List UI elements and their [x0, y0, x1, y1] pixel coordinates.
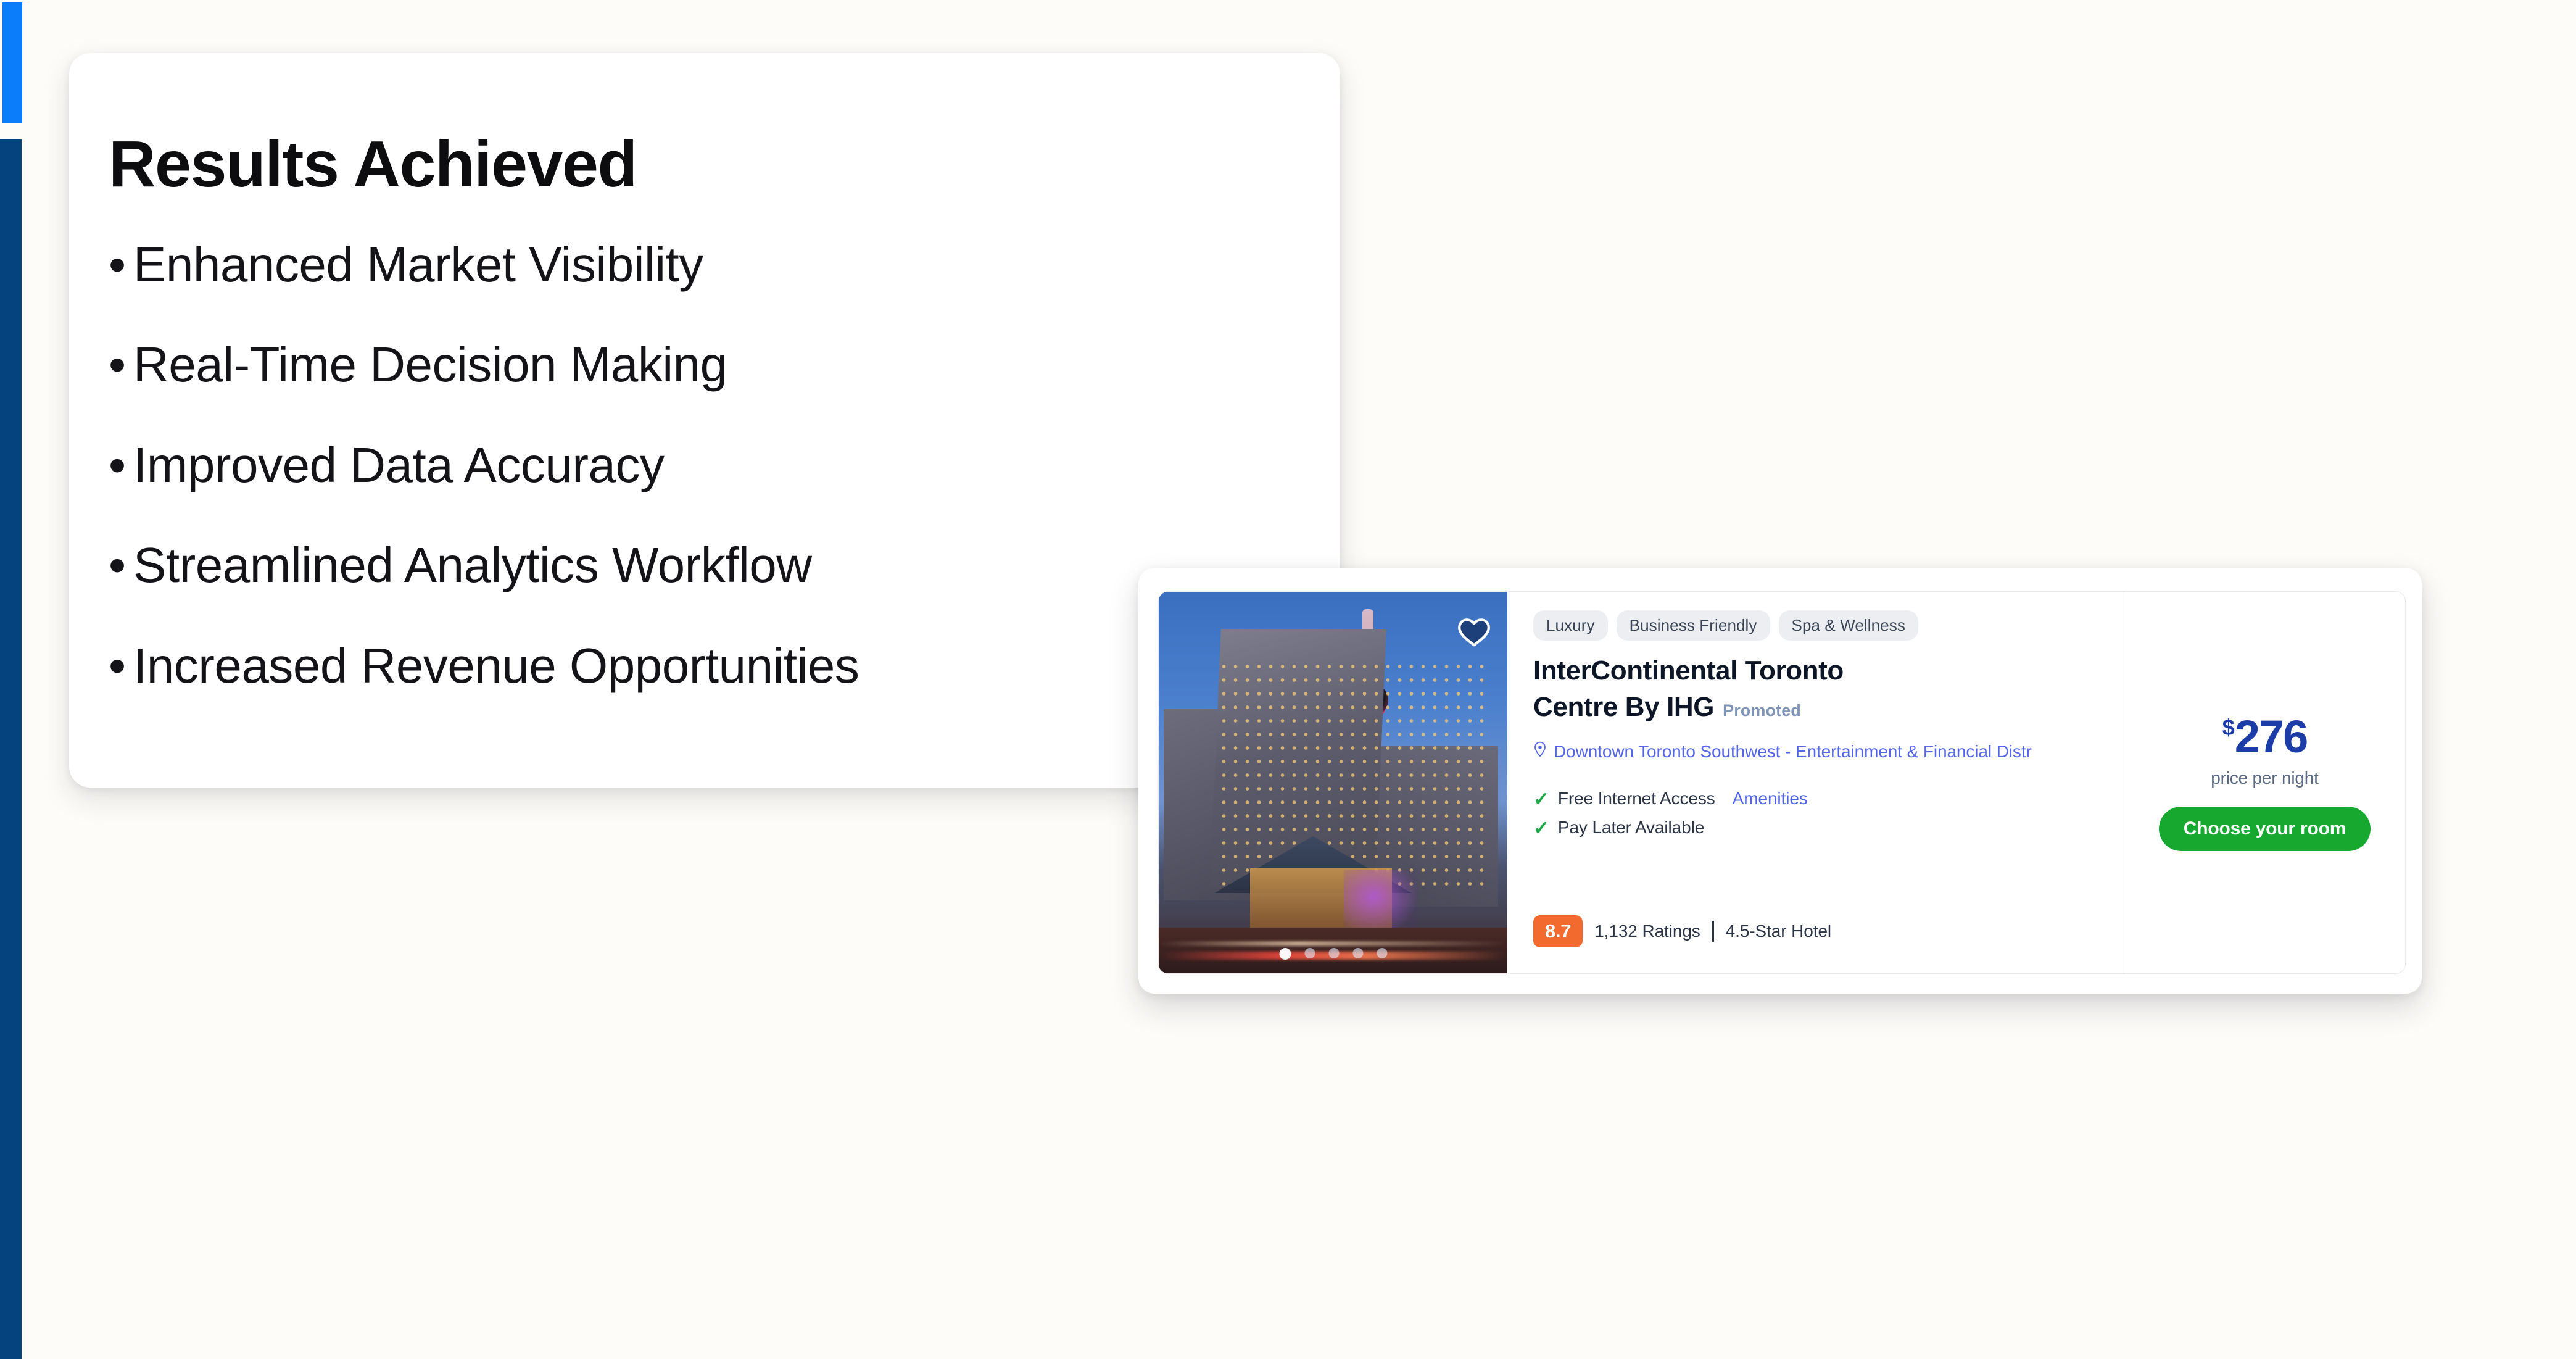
- hotel-name-line-2: Centre By IHG: [1533, 692, 1714, 722]
- building-windows: [1218, 660, 1489, 894]
- check-icon: ✓: [1533, 818, 1549, 837]
- amenity-label: Pay Later Available: [1558, 818, 1704, 837]
- hotel-tag-chips: Luxury Business Friendly Spa & Wellness: [1533, 610, 2102, 641]
- list-item-label: Real-Time Decision Making: [133, 338, 727, 391]
- list-item: • Enhanced Market Visibility: [109, 238, 1340, 291]
- list-item-label: Streamlined Analytics Workflow: [133, 539, 812, 592]
- accent-bar-top: [2, 2, 22, 123]
- hotel-info-column: Luxury Business Friendly Spa & Wellness …: [1507, 592, 2124, 973]
- bullet-marker-icon: •: [109, 641, 133, 691]
- map-pin-icon: [1533, 741, 1547, 762]
- hotel-location-link[interactable]: Downtown Toronto Southwest - Entertainme…: [1533, 741, 2102, 762]
- amenity-row-pay-later: ✓ Pay Later Available: [1533, 818, 2102, 837]
- photo-carousel-dots[interactable]: [1279, 948, 1387, 960]
- rating-separator: [1712, 921, 1714, 942]
- hotel-location-text: Downtown Toronto Southwest - Entertainme…: [1554, 742, 2032, 762]
- carousel-dot[interactable]: [1377, 948, 1387, 958]
- price-amount: 276: [2235, 714, 2307, 760]
- bullet-marker-icon: •: [109, 340, 133, 389]
- amenity-label: Free Internet Access: [1558, 789, 1715, 808]
- hotel-amenities-list: ✓ Free Internet Access Amenities ✓ Pay L…: [1533, 789, 2102, 837]
- rating-score-badge: 8.7: [1533, 915, 1583, 947]
- hotel-name-line-1: InterContinental Toronto: [1533, 653, 2002, 689]
- rating-count[interactable]: 1,132 Ratings: [1594, 921, 1700, 941]
- hotel-result-panel: Luxury Business Friendly Spa & Wellness …: [1138, 568, 2422, 994]
- bullet-marker-icon: •: [109, 240, 133, 289]
- carousel-dot[interactable]: [1279, 948, 1291, 960]
- price-caption: price per night: [2211, 768, 2318, 788]
- bullet-marker-icon: •: [109, 441, 133, 490]
- tag-chip-spa-wellness[interactable]: Spa & Wellness: [1779, 610, 1918, 641]
- promoted-badge: Promoted: [1723, 701, 1801, 720]
- list-item: • Real-Time Decision Making: [109, 338, 1340, 391]
- currency-symbol: $: [2222, 717, 2234, 739]
- carousel-dot[interactable]: [1352, 948, 1363, 958]
- tag-chip-luxury[interactable]: Luxury: [1533, 610, 1608, 641]
- hotel-star-class: 4.5-Star Hotel: [1726, 921, 1831, 941]
- list-item-label: Increased Revenue Opportunities: [133, 639, 859, 692]
- slide-canvas: Results Achieved • Enhanced Market Visib…: [0, 0, 2576, 1359]
- rating-meta: 1,132 Ratings 4.5-Star Hotel: [1594, 921, 1831, 942]
- light-trail-white: [1159, 941, 1507, 946]
- check-icon: ✓: [1533, 789, 1549, 808]
- hotel-result-card[interactable]: Luxury Business Friendly Spa & Wellness …: [1158, 591, 2406, 974]
- carousel-dot[interactable]: [1328, 948, 1339, 958]
- list-item-label: Enhanced Market Visibility: [133, 238, 703, 291]
- hotel-name-line-2-wrap: Centre By IHGPromoted: [1533, 689, 2002, 726]
- amenity-row-internet: ✓ Free Internet Access Amenities: [1533, 789, 2102, 808]
- hotel-rating-row: 8.7 1,132 Ratings 4.5-Star Hotel: [1533, 915, 1831, 947]
- list-item: • Improved Data Accuracy: [109, 439, 1340, 492]
- choose-your-room-button[interactable]: Choose your room: [2159, 807, 2371, 851]
- amenities-link[interactable]: Amenities: [1733, 789, 1808, 808]
- list-item-label: Improved Data Accuracy: [133, 439, 664, 492]
- accent-bar-bottom: [0, 139, 22, 1359]
- carousel-dot[interactable]: [1304, 948, 1315, 958]
- tag-chip-business-friendly[interactable]: Business Friendly: [1617, 610, 1770, 641]
- hotel-photo[interactable]: [1159, 592, 1507, 973]
- bullet-marker-icon: •: [109, 541, 133, 590]
- hotel-name[interactable]: InterContinental Toronto Centre By IHGPr…: [1533, 653, 2002, 725]
- heart-icon[interactable]: [1457, 615, 1491, 647]
- price-value: $276: [2222, 714, 2308, 760]
- page-title: Results Achieved: [109, 127, 637, 202]
- hotel-price-column: $276 price per night Choose your room: [2124, 592, 2405, 973]
